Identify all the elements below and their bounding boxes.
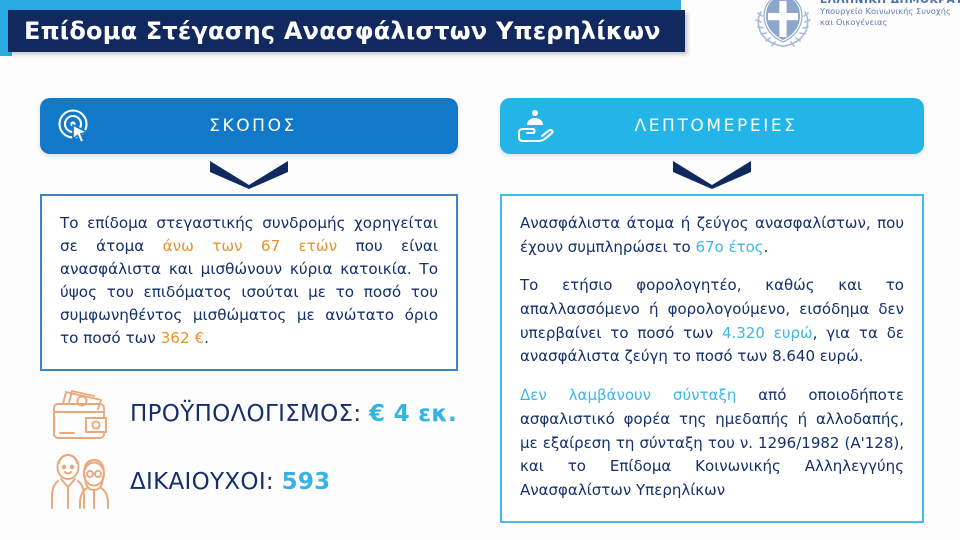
stat-beneficiaries-value: 593 [282, 469, 331, 495]
stat-budget-label-text: ΠΡΟΫΠΟΛΟΓΙΣΜΟΣ: [130, 401, 369, 427]
elderly-couple-icon [44, 450, 116, 514]
right-column: ΛΕΠΤΟΜΕΡΕΙΕΣ Ανασφάλιστα άτομα ή ζεύγος … [500, 98, 924, 523]
right-arrow-wrap [500, 154, 924, 194]
stat-beneficiaries: ΔΙΚΑΙΟΥΧΟΙ: 593 [44, 448, 474, 516]
details-p1-part-2: . [764, 238, 769, 256]
chevron-down-icon [671, 159, 753, 189]
purpose-text-part-3: . [204, 329, 209, 347]
stat-beneficiaries-label: ΔΙΚΑΙΟΥΧΟΙ: 593 [130, 469, 331, 495]
section-header-purpose-label: ΣΚΟΠΟΣ [96, 116, 444, 136]
stat-budget-value: € 4 εκ. [369, 401, 457, 427]
page-title: Επίδομα Στέγασης Ανασφάλιστων Υπερηλίκων [8, 17, 661, 45]
slide-title-bar: Επίδομα Στέγασης Ανασφάλιστων Υπερηλίκων [8, 10, 685, 52]
left-arrow-wrap [40, 154, 458, 194]
logo-line-ministry-1: Υπουργείο Κοινωνικής Συνοχής [820, 6, 960, 17]
stat-budget-label: ΠΡΟΫΠΟΛΟΓΙΣΜΟΣ: € 4 εκ. [130, 401, 457, 427]
left-column: ΣΚΟΠΟΣ Το επίδομα στεγαστικής συνδρομής … [40, 98, 458, 371]
purpose-panel: Το επίδομα στεγαστικής συνδρομής χορηγεί… [40, 194, 458, 371]
stat-beneficiaries-label-text: ΔΙΚΑΙΟΥΧΟΙ: [130, 469, 282, 495]
details-paragraph-1: Ανασφάλιστα άτομα ή ζεύγος ανασφαλίστων,… [520, 212, 904, 259]
details-paragraph-3: Δεν λαμβάνουν σύνταξη από οποιοδήποτε ασ… [520, 384, 904, 502]
details-p3-highlight: Δεν λαμβάνουν σύνταξη [520, 386, 736, 404]
greek-coat-of-arms-icon [752, 0, 814, 48]
chevron-down-icon [208, 159, 290, 189]
hand-holding-person-icon [514, 105, 556, 147]
details-p1-highlight: 67ο έτος [695, 238, 763, 256]
details-p2-highlight: 4.320 ευρώ [722, 324, 813, 342]
purpose-highlight-amount: 362 € [161, 329, 204, 347]
purpose-highlight-age: άνω των 67 ετών [163, 237, 337, 255]
section-header-details[interactable]: ΛΕΠΤΟΜΕΡΕΙΕΣ [500, 98, 924, 154]
stats-group: ΠΡΟΫΠΟΛΟΓΙΣΜΟΣ: € 4 εκ. [44, 380, 474, 516]
slide-canvas: Επίδομα Στέγασης Ανασφάλιστων Υπερηλίκων… [0, 0, 960, 540]
section-header-details-label: ΛΕΠΤΟΜΕΡΕΙΕΣ [556, 116, 910, 136]
target-cursor-icon [54, 105, 96, 147]
purpose-body-text: Το επίδομα στεγαστικής συνδρομής χορηγεί… [60, 212, 438, 351]
section-header-purpose[interactable]: ΣΚΟΠΟΣ [40, 98, 458, 154]
details-paragraph-2: Το ετήσιο φορολογητέο, καθώς και το απαλ… [520, 274, 904, 369]
stat-budget: ΠΡΟΫΠΟΛΟΓΙΣΜΟΣ: € 4 εκ. [44, 380, 474, 448]
details-panel: Ανασφάλιστα άτομα ή ζεύγος ανασφαλίστων,… [500, 194, 924, 523]
government-logo: ΕΛΛΗΝΙΚΗ ΔΗΜΟΚΡΑΤΙΑ Υπουργείο Κοινωνικής… [752, 0, 960, 48]
wallet-with-banknotes-icon [44, 382, 116, 446]
logo-line-ministry-2: και Οικογένειας [820, 17, 960, 28]
